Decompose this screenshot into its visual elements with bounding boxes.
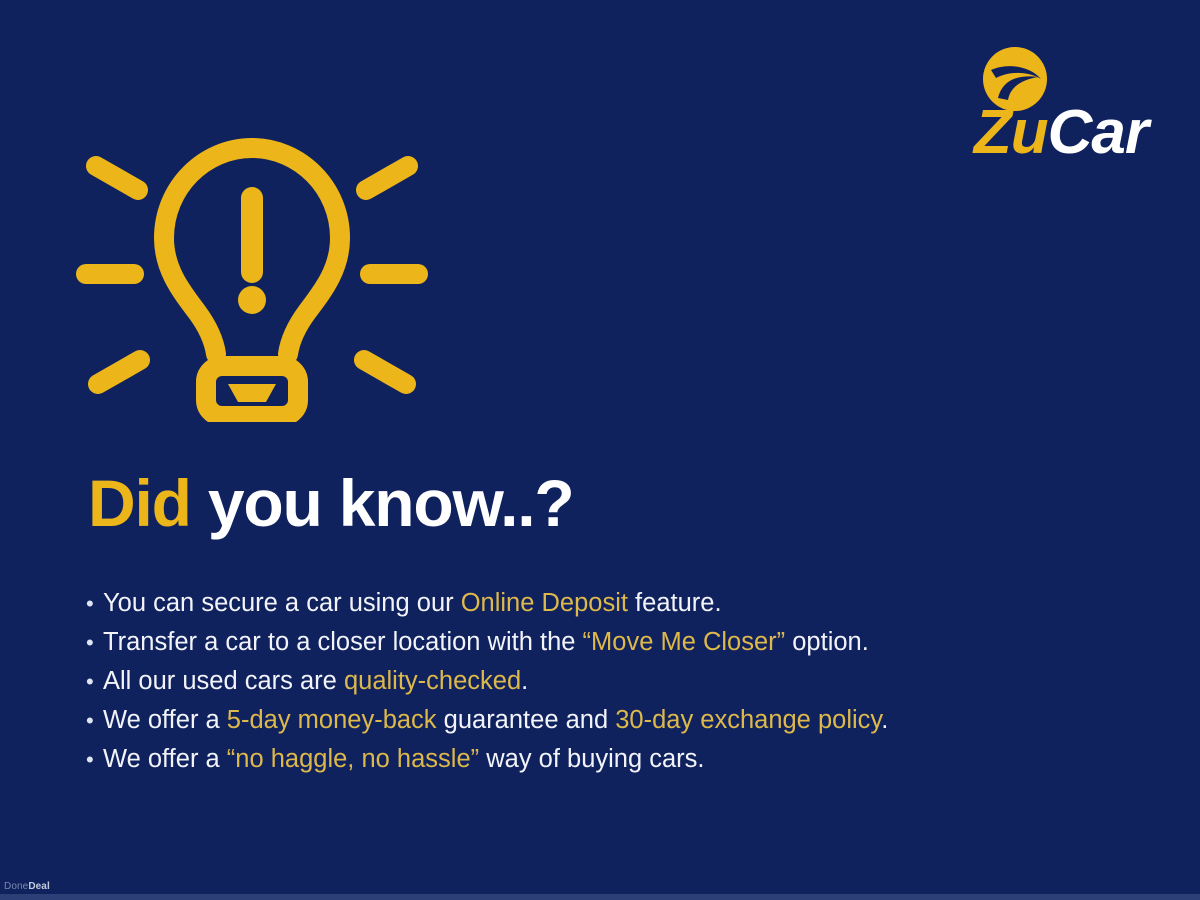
list-item-text: Transfer a car to a closer location with… [103, 623, 869, 662]
bullet-marker-icon: • [86, 584, 103, 623]
list-item: •We offer a 5-day money-back guarantee a… [86, 701, 1106, 740]
bullet-marker-icon: • [86, 740, 103, 779]
brand-wordmark-car: Car [1048, 98, 1148, 167]
highlighted-term: quality-checked [344, 667, 521, 695]
plain-term: way of buying cars. [479, 745, 704, 773]
watermark-part-two: Deal [28, 881, 50, 892]
plain-term: . [881, 706, 888, 734]
plain-term: . [521, 667, 528, 695]
plain-term: We offer a [103, 745, 227, 773]
highlighted-term: “no haggle, no hassle” [227, 745, 479, 773]
slide-canvas: ZuCar [0, 0, 1200, 900]
plain-term: We offer a [103, 706, 227, 734]
bottom-edge-strip [0, 894, 1200, 900]
plain-term: guarantee and [437, 706, 616, 734]
bullet-marker-icon: • [86, 623, 103, 662]
list-item-text: All our used cars are quality-checked. [103, 662, 528, 701]
plain-term: option. [785, 628, 869, 656]
fact-list: •You can secure a car using our Online D… [86, 584, 1106, 779]
bullet-marker-icon: • [86, 662, 103, 701]
page-title-rest: you know..? [208, 466, 574, 540]
highlighted-term: “Move Me Closer” [583, 628, 786, 656]
list-item-text: You can secure a car using our Online De… [103, 584, 722, 623]
plain-term: All our used cars are [103, 667, 344, 695]
list-item: •We offer a “no haggle, no hassle” way o… [86, 740, 1106, 779]
brand-wordmark-zu: Zu [974, 98, 1048, 167]
brand-logo: ZuCar [918, 46, 1148, 162]
bullet-marker-icon: • [86, 701, 103, 740]
list-item: •Transfer a car to a closer location wit… [86, 623, 1106, 662]
list-item: •All our used cars are quality-checked. [86, 662, 1106, 701]
highlighted-term: 5-day money-back [227, 706, 437, 734]
highlighted-term: 30-day exchange policy [615, 706, 881, 734]
brand-wordmark: ZuCar [918, 104, 1148, 162]
plain-term: feature. [628, 589, 722, 617]
plain-term: You can secure a car using our [103, 589, 461, 617]
highlighted-term: Online Deposit [461, 589, 628, 617]
page-title-accent: Did [88, 466, 191, 540]
donedeal-watermark: DoneDeal [4, 881, 50, 892]
page-title: Did you know..? [88, 470, 574, 536]
list-item-text: We offer a “no haggle, no hassle” way of… [103, 740, 705, 779]
list-item: •You can secure a car using our Online D… [86, 584, 1106, 623]
list-item-text: We offer a 5-day money-back guarantee an… [103, 701, 888, 740]
plain-term: Transfer a car to a closer location with… [103, 628, 583, 656]
watermark-part-one: Done [4, 881, 28, 892]
lightbulb-exclamation-icon [72, 122, 432, 422]
